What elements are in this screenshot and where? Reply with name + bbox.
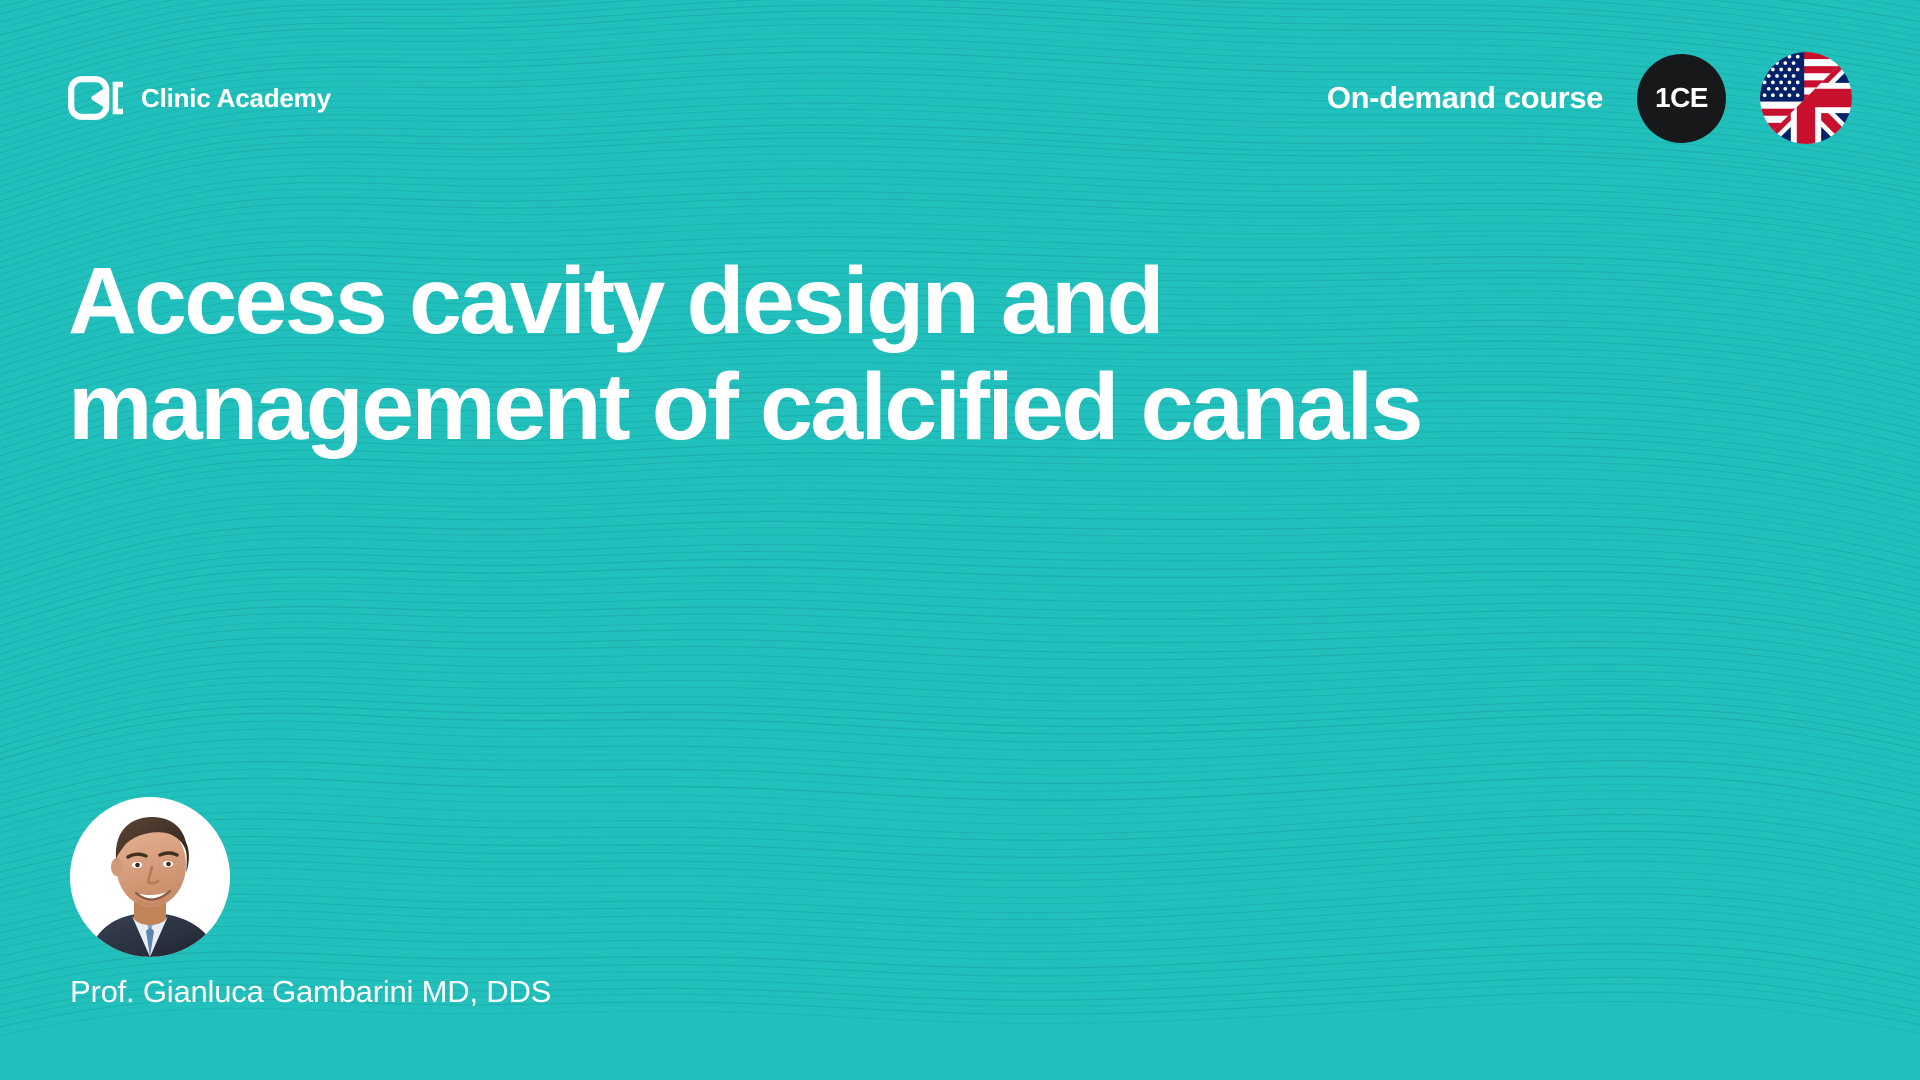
us-uk-combined-flag-icon [1760,52,1852,144]
presenter-name-label: Prof. Gianluca Gambarini MD, DDS [70,974,830,1010]
video-camera-play-icon [68,76,124,120]
presenter-block: Prof. Gianluca Gambarini MD, DDS [70,797,830,1010]
brand-lockup[interactable]: Clinic Academy [68,68,331,128]
course-title-slide: Clinic Academy On-demand course 1CE [0,0,1920,1080]
presenter-avatar [70,797,230,957]
title-block: Access cavity design and management of c… [68,248,1828,461]
course-title: Access cavity design and management of c… [68,248,1728,461]
header-meta-group: On-demand course 1CE [1327,48,1860,148]
ce-credit-badge: 1CE [1637,54,1726,143]
course-type-label: On-demand course [1327,80,1603,116]
ce-credit-badge-label: 1CE [1655,84,1708,112]
brand-name-label: Clinic Academy [141,83,331,114]
slide-header: Clinic Academy On-demand course 1CE [0,0,1920,196]
presenter-portrait-photo [70,797,230,957]
